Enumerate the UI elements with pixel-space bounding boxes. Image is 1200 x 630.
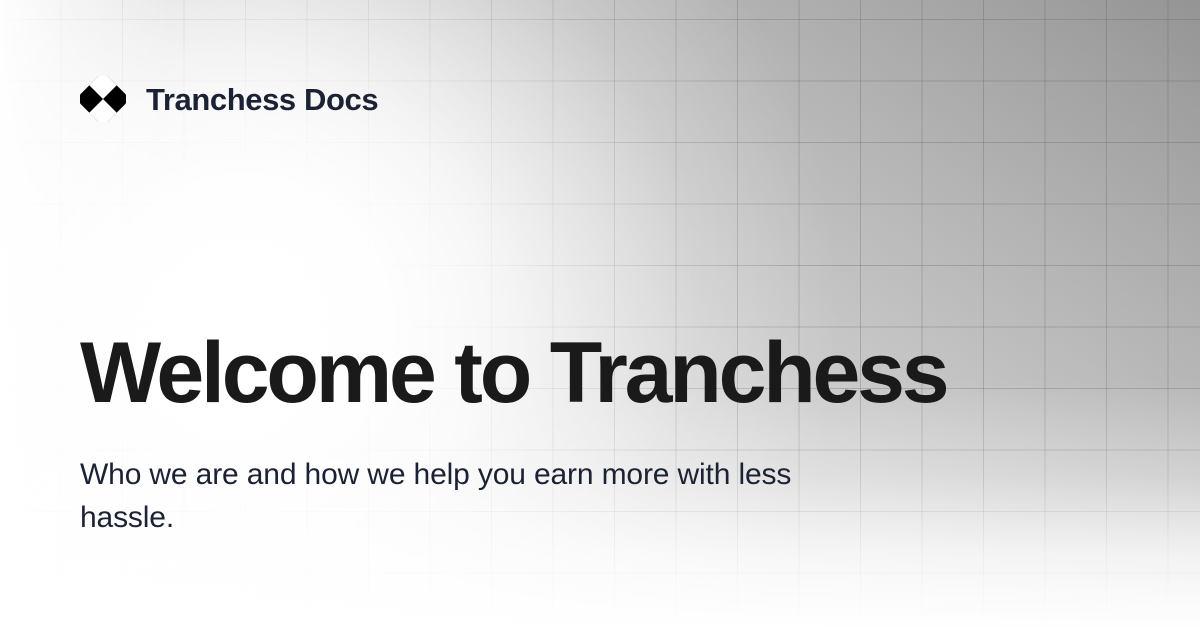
tranchess-diamond-logo-icon — [80, 76, 126, 122]
page-subtitle: Who we are and how we help you earn more… — [80, 454, 880, 539]
card-content: Tranchess Docs Welcome to Tranchess Who … — [0, 0, 1200, 630]
brand-title: Tranchess Docs — [146, 84, 378, 115]
page-title: Welcome to Tranchess — [80, 330, 1120, 416]
brand-lockup[interactable]: Tranchess Docs — [80, 76, 378, 122]
hero-block: Welcome to Tranchess Who we are and how … — [80, 330, 1120, 539]
og-card: Tranchess Docs Welcome to Tranchess Who … — [0, 0, 1200, 630]
